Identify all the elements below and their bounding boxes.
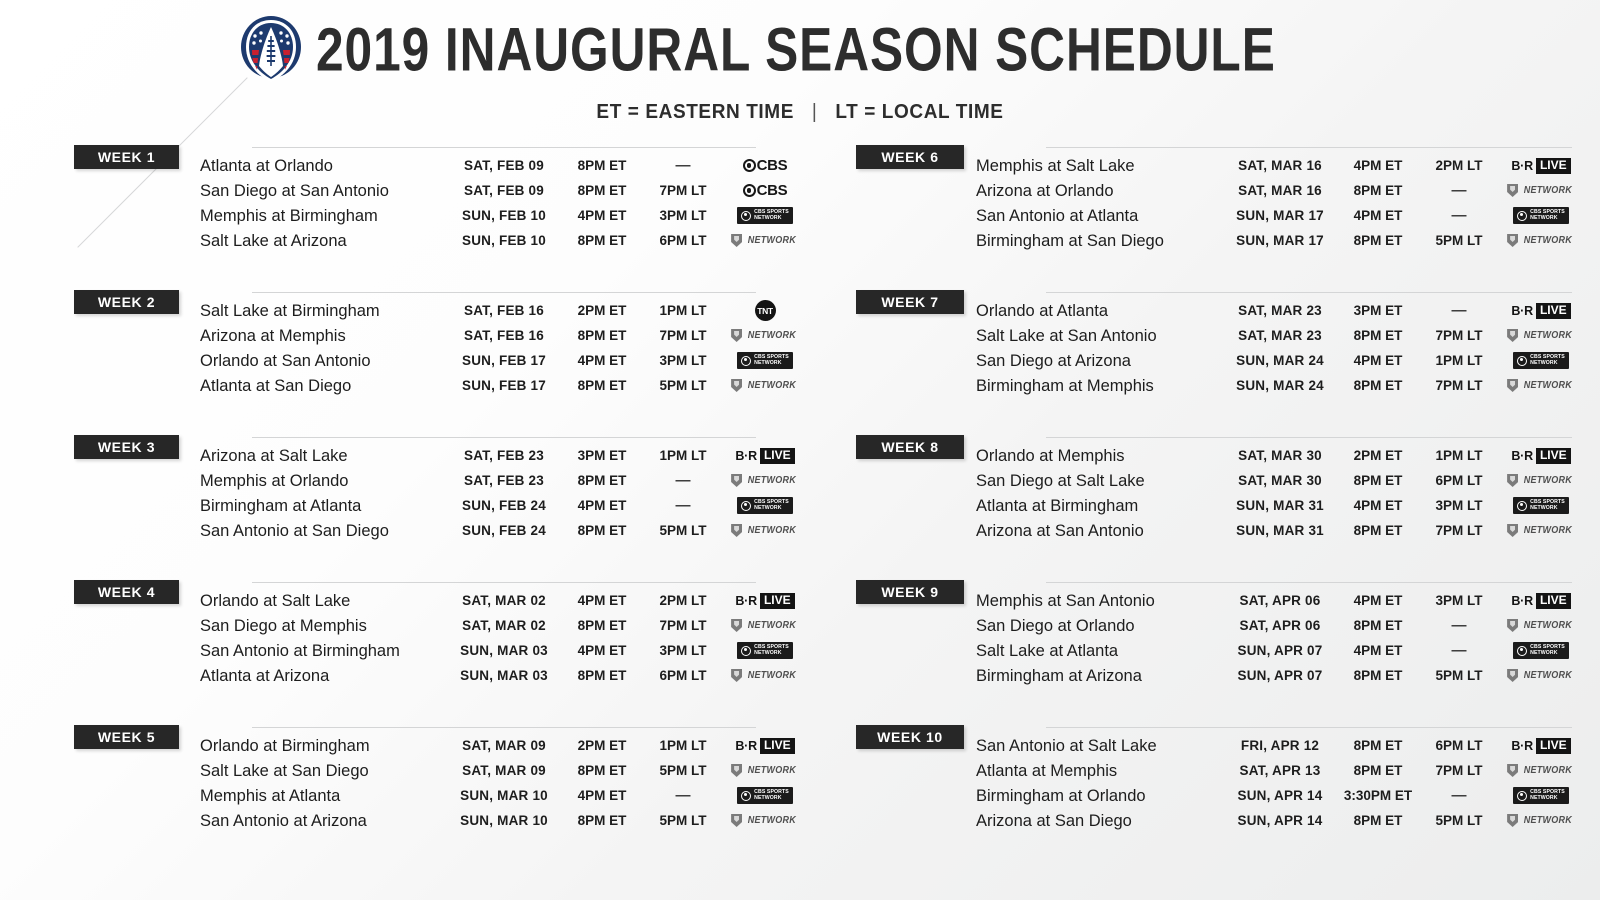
game-date: SAT, APR 06 bbox=[1224, 618, 1336, 633]
cbs-eye-icon bbox=[741, 211, 751, 221]
matchup: Memphis at Orlando bbox=[200, 471, 441, 491]
broadcast-network: NETWORK bbox=[1498, 619, 1584, 632]
eastern-time: 4PM ET bbox=[1336, 593, 1420, 608]
network-wordmark: NETWORK bbox=[1524, 525, 1572, 536]
network-wordmark: NETWORK bbox=[748, 235, 796, 246]
broadcast-network: NETWORK bbox=[722, 234, 808, 247]
nfl-network-logo: NETWORK bbox=[1507, 474, 1575, 487]
game-row: Memphis at OrlandoSAT, FEB 238PM ET—NETW… bbox=[200, 468, 766, 493]
game-row: Arizona at MemphisSAT, FEB 168PM ET7PM L… bbox=[200, 323, 766, 348]
broadcast-network: TNT bbox=[722, 300, 808, 321]
eastern-time: 8PM ET bbox=[560, 378, 644, 393]
game-date: SAT, APR 06 bbox=[1224, 593, 1336, 608]
local-time: — bbox=[1420, 302, 1498, 319]
network-wordmark: NETWORK bbox=[1524, 185, 1572, 196]
matchup: San Antonio at San Diego bbox=[200, 521, 441, 541]
matchup: Atlanta at Arizona bbox=[200, 666, 441, 686]
game-row: Arizona at Salt LakeSAT, FEB 233PM ET1PM… bbox=[200, 443, 766, 468]
legend-eastern-time: ET = EASTERN TIME bbox=[596, 101, 794, 123]
eastern-time: 8PM ET bbox=[1336, 328, 1420, 343]
game-date: SAT, FEB 16 bbox=[448, 303, 560, 318]
matchup: Atlanta at Memphis bbox=[976, 761, 1217, 781]
cbs-eye-icon bbox=[1517, 501, 1527, 511]
broadcast-network: NETWORK bbox=[1498, 379, 1584, 392]
nfl-network-logo: NETWORK bbox=[1507, 764, 1575, 777]
cbs-eye-icon bbox=[743, 159, 756, 172]
shield-icon bbox=[1507, 379, 1518, 392]
game-row: Memphis at Salt LakeSAT, MAR 164PM ET2PM… bbox=[976, 153, 1582, 178]
game-list: Orlando at MemphisSAT, MAR 302PM ET1PM L… bbox=[976, 443, 1582, 543]
game-date: SUN, MAR 03 bbox=[448, 668, 560, 683]
shield-icon bbox=[731, 379, 742, 392]
broadcast-network: NETWORK bbox=[722, 379, 808, 392]
aaf-shield-logo bbox=[240, 14, 302, 86]
game-date: SUN, APR 07 bbox=[1224, 668, 1336, 683]
br-live-badge: LIVE bbox=[760, 593, 795, 609]
cbs-sports-network-logo: CBS SPORTSNETWORK bbox=[1513, 787, 1569, 804]
game-date: SUN, MAR 10 bbox=[448, 788, 560, 803]
week-label-10: WEEK 10 bbox=[856, 725, 964, 749]
broadcast-network: B·RLIVE bbox=[722, 593, 808, 609]
game-list: Atlanta at OrlandoSAT, FEB 098PM ET—CBSS… bbox=[200, 153, 766, 253]
br-wordmark: B·R bbox=[735, 449, 757, 463]
nfl-network-logo: NETWORK bbox=[1507, 329, 1575, 342]
cbs-sports-network-logo: CBS SPORTSNETWORK bbox=[737, 207, 793, 224]
cbs-eye-icon bbox=[1517, 356, 1527, 366]
game-row: San Antonio at ArizonaSUN, MAR 108PM ET5… bbox=[200, 808, 766, 833]
matchup: Atlanta at San Diego bbox=[200, 376, 441, 396]
bleacher-report-live-logo: B·RLIVE bbox=[1511, 593, 1570, 609]
matchup: Birmingham at San Diego bbox=[976, 231, 1217, 251]
broadcast-network: NETWORK bbox=[722, 669, 808, 682]
br-live-badge: LIVE bbox=[1536, 303, 1571, 319]
broadcast-network: B·RLIVE bbox=[1498, 303, 1584, 319]
cbs-sports-network-logo: CBS SPORTSNETWORK bbox=[737, 642, 793, 659]
cbs-eye-icon bbox=[743, 184, 756, 197]
tnt-logo: TNT bbox=[755, 300, 776, 321]
matchup: San Antonio at Arizona bbox=[200, 811, 441, 831]
game-row: San Diego at OrlandoSAT, APR 068PM ET—NE… bbox=[976, 613, 1582, 638]
local-time: 7PM LT bbox=[644, 183, 722, 198]
br-wordmark: B·R bbox=[1511, 594, 1533, 608]
game-date: SAT, MAR 23 bbox=[1224, 328, 1336, 343]
schedule-column-left: WEEK 1Atlanta at OrlandoSAT, FEB 098PM E… bbox=[0, 140, 800, 880]
game-date: SUN, FEB 24 bbox=[448, 498, 560, 513]
matchup: San Diego at Memphis bbox=[200, 616, 441, 636]
local-time: 7PM LT bbox=[1420, 378, 1498, 393]
cbs-wordmark: CBS bbox=[757, 182, 788, 199]
game-row: San Antonio at San DiegoSUN, FEB 248PM E… bbox=[200, 518, 766, 543]
local-time: 3PM LT bbox=[644, 643, 722, 658]
eastern-time: 8PM ET bbox=[560, 328, 644, 343]
cbs-sports-network-wordmark: CBS SPORTSNETWORK bbox=[1530, 210, 1565, 221]
cbs-eye-icon bbox=[1517, 646, 1527, 656]
cbs-sports-network-wordmark: CBS SPORTSNETWORK bbox=[754, 210, 789, 221]
shield-icon bbox=[1507, 234, 1518, 247]
game-row: Memphis at San AntonioSAT, APR 064PM ET3… bbox=[976, 588, 1582, 613]
game-row: Birmingham at AtlantaSUN, FEB 244PM ET—C… bbox=[200, 493, 766, 518]
local-time: 5PM LT bbox=[644, 378, 722, 393]
matchup: Birmingham at Atlanta bbox=[200, 496, 441, 516]
game-date: SUN, MAR 24 bbox=[1224, 353, 1336, 368]
shield-icon bbox=[731, 814, 742, 827]
network-wordmark: NETWORK bbox=[1524, 235, 1572, 246]
section-divider bbox=[252, 437, 756, 438]
broadcast-network: NETWORK bbox=[722, 764, 808, 777]
eastern-time: 3:30PM ET bbox=[1336, 788, 1420, 803]
week-block: WEEK 6Memphis at Salt LakeSAT, MAR 164PM… bbox=[856, 140, 1582, 285]
matchup: San Antonio at Birmingham bbox=[200, 641, 441, 661]
eastern-time: 4PM ET bbox=[1336, 158, 1420, 173]
network-wordmark: NETWORK bbox=[748, 330, 796, 341]
shield-icon bbox=[731, 669, 742, 682]
cbs-eye-icon bbox=[741, 356, 751, 366]
matchup: Birmingham at Orlando bbox=[976, 786, 1217, 806]
eastern-time: 8PM ET bbox=[1336, 738, 1420, 753]
broadcast-network: CBS SPORTSNETWORK bbox=[1498, 207, 1584, 224]
local-time: — bbox=[644, 787, 722, 804]
matchup: Orlando at Salt Lake bbox=[200, 591, 441, 611]
week-block: WEEK 2Salt Lake at BirminghamSAT, FEB 16… bbox=[74, 285, 766, 430]
broadcast-network: B·RLIVE bbox=[1498, 738, 1584, 754]
eastern-time: 4PM ET bbox=[1336, 208, 1420, 223]
broadcast-network: NETWORK bbox=[722, 814, 808, 827]
game-row: Birmingham at OrlandoSUN, APR 143:30PM E… bbox=[976, 783, 1582, 808]
bleacher-report-live-logo: B·RLIVE bbox=[1511, 158, 1570, 174]
schedule-column-right: WEEK 6Memphis at Salt LakeSAT, MAR 164PM… bbox=[800, 140, 1600, 880]
eastern-time: 3PM ET bbox=[560, 448, 644, 463]
broadcast-network: CBS SPORTSNETWORK bbox=[722, 642, 808, 659]
game-list: Memphis at Salt LakeSAT, MAR 164PM ET2PM… bbox=[976, 153, 1582, 253]
matchup: Memphis at Atlanta bbox=[200, 786, 441, 806]
bleacher-report-live-logo: B·RLIVE bbox=[735, 448, 794, 464]
game-date: SUN, FEB 17 bbox=[448, 378, 560, 393]
game-date: SUN, APR 14 bbox=[1224, 813, 1336, 828]
matchup: Atlanta at Birmingham bbox=[976, 496, 1217, 516]
game-date: SAT, FEB 09 bbox=[448, 158, 560, 173]
shield-icon bbox=[731, 524, 742, 537]
eastern-time: 8PM ET bbox=[560, 233, 644, 248]
local-time: — bbox=[1420, 642, 1498, 659]
game-date: SUN, FEB 17 bbox=[448, 353, 560, 368]
game-list: Memphis at San AntonioSAT, APR 064PM ET3… bbox=[976, 588, 1582, 688]
matchup: Memphis at Salt Lake bbox=[976, 156, 1217, 176]
local-time: 5PM LT bbox=[644, 523, 722, 538]
nfl-network-logo: NETWORK bbox=[1507, 669, 1575, 682]
matchup: Orlando at Birmingham bbox=[200, 736, 441, 756]
local-time: 2PM LT bbox=[1420, 158, 1498, 173]
local-time: — bbox=[644, 157, 722, 174]
nfl-network-logo: NETWORK bbox=[731, 329, 799, 342]
game-row: Birmingham at ArizonaSUN, APR 078PM ET5P… bbox=[976, 663, 1582, 688]
matchup: Orlando at San Antonio bbox=[200, 351, 441, 371]
eastern-time: 8PM ET bbox=[1336, 183, 1420, 198]
nfl-network-logo: NETWORK bbox=[731, 379, 799, 392]
poster-header: 2019 INAUGURAL SEASON SCHEDULE ET = EAST… bbox=[0, 14, 1600, 124]
game-row: Arizona at San DiegoSUN, APR 148PM ET5PM… bbox=[976, 808, 1582, 833]
week-block: WEEK 10San Antonio at Salt LakeFRI, APR … bbox=[856, 720, 1582, 865]
nfl-network-logo: NETWORK bbox=[731, 524, 799, 537]
game-row: Atlanta at BirminghamSUN, MAR 314PM ET3P… bbox=[976, 493, 1582, 518]
cbs-sports-network-wordmark: CBS SPORTSNETWORK bbox=[754, 645, 789, 656]
bleacher-report-live-logo: B·RLIVE bbox=[1511, 448, 1570, 464]
game-date: SUN, MAR 31 bbox=[1224, 498, 1336, 513]
eastern-time: 2PM ET bbox=[1336, 448, 1420, 463]
nfl-network-logo: NETWORK bbox=[731, 234, 799, 247]
matchup: San Antonio at Atlanta bbox=[976, 206, 1217, 226]
eastern-time: 8PM ET bbox=[1336, 473, 1420, 488]
broadcast-network: NETWORK bbox=[1498, 329, 1584, 342]
game-list: San Antonio at Salt LakeFRI, APR 128PM E… bbox=[976, 733, 1582, 833]
network-wordmark: NETWORK bbox=[748, 620, 796, 631]
cbs-sports-network-logo: CBS SPORTSNETWORK bbox=[737, 352, 793, 369]
nfl-network-logo: NETWORK bbox=[1507, 619, 1575, 632]
local-time: 1PM LT bbox=[644, 303, 722, 318]
eastern-time: 8PM ET bbox=[1336, 763, 1420, 778]
cbs-eye-icon bbox=[741, 646, 751, 656]
local-time: — bbox=[644, 497, 722, 514]
matchup: Arizona at Orlando bbox=[976, 181, 1217, 201]
section-divider bbox=[1046, 727, 1572, 728]
network-wordmark: NETWORK bbox=[1524, 380, 1572, 391]
game-date: SAT, FEB 16 bbox=[448, 328, 560, 343]
section-divider bbox=[252, 582, 756, 583]
game-date: SUN, MAR 24 bbox=[1224, 378, 1336, 393]
local-time: 5PM LT bbox=[644, 763, 722, 778]
matchup: Arizona at Memphis bbox=[200, 326, 441, 346]
broadcast-network: B·RLIVE bbox=[1498, 158, 1584, 174]
cbs-eye-icon bbox=[741, 501, 751, 511]
cbs-logo: CBS bbox=[743, 157, 788, 174]
matchup: Salt Lake at San Diego bbox=[200, 761, 441, 781]
matchup: Orlando at Memphis bbox=[976, 446, 1217, 466]
cbs-eye-icon bbox=[1517, 211, 1527, 221]
game-row: Atlanta at OrlandoSAT, FEB 098PM ET—CBS bbox=[200, 153, 766, 178]
network-wordmark: NETWORK bbox=[1524, 330, 1572, 341]
game-list: Salt Lake at BirminghamSAT, FEB 162PM ET… bbox=[200, 298, 766, 398]
week-label-1: WEEK 1 bbox=[74, 145, 179, 169]
cbs-sports-network-wordmark: CBS SPORTSNETWORK bbox=[754, 355, 789, 366]
broadcast-network: CBS SPORTSNETWORK bbox=[722, 787, 808, 804]
shield-icon bbox=[1507, 474, 1518, 487]
shield-icon bbox=[731, 474, 742, 487]
cbs-sports-network-wordmark: CBS SPORTSNETWORK bbox=[1530, 500, 1565, 511]
broadcast-network: NETWORK bbox=[1498, 524, 1584, 537]
shield-icon bbox=[1507, 329, 1518, 342]
eastern-time: 8PM ET bbox=[1336, 378, 1420, 393]
game-row: Orlando at San AntonioSUN, FEB 174PM ET3… bbox=[200, 348, 766, 373]
broadcast-network: CBS SPORTSNETWORK bbox=[722, 497, 808, 514]
network-wordmark: NETWORK bbox=[748, 815, 796, 826]
game-date: SUN, FEB 10 bbox=[448, 208, 560, 223]
broadcast-network: B·RLIVE bbox=[722, 738, 808, 754]
broadcast-network: NETWORK bbox=[1498, 474, 1584, 487]
shield-icon bbox=[1507, 814, 1518, 827]
br-live-badge: LIVE bbox=[1536, 593, 1571, 609]
eastern-time: 4PM ET bbox=[560, 498, 644, 513]
game-date: SAT, MAR 09 bbox=[448, 738, 560, 753]
cbs-wordmark: CBS bbox=[757, 157, 788, 174]
game-list: Orlando at AtlantaSAT, MAR 233PM ET—B·RL… bbox=[976, 298, 1582, 398]
game-date: SAT, FEB 23 bbox=[448, 448, 560, 463]
game-row: Salt Lake at San DiegoSAT, MAR 098PM ET5… bbox=[200, 758, 766, 783]
matchup: Birmingham at Memphis bbox=[976, 376, 1217, 396]
game-date: SUN, MAR 17 bbox=[1224, 233, 1336, 248]
matchup: Orlando at Atlanta bbox=[976, 301, 1217, 321]
shield-icon bbox=[1507, 764, 1518, 777]
matchup: Arizona at San Antonio bbox=[976, 521, 1217, 541]
game-row: Orlando at MemphisSAT, MAR 302PM ET1PM L… bbox=[976, 443, 1582, 468]
game-date: SAT, MAR 02 bbox=[448, 593, 560, 608]
eastern-time: 8PM ET bbox=[560, 813, 644, 828]
game-date: FRI, APR 12 bbox=[1224, 738, 1336, 753]
cbs-sports-network-logo: CBS SPORTSNETWORK bbox=[1513, 352, 1569, 369]
schedule-columns: WEEK 1Atlanta at OrlandoSAT, FEB 098PM E… bbox=[0, 140, 1600, 880]
bleacher-report-live-logo: B·RLIVE bbox=[735, 738, 794, 754]
matchup: San Diego at San Antonio bbox=[200, 181, 441, 201]
matchup: Arizona at Salt Lake bbox=[200, 446, 441, 466]
game-date: SAT, MAR 02 bbox=[448, 618, 560, 633]
week-block: WEEK 1Atlanta at OrlandoSAT, FEB 098PM E… bbox=[74, 140, 766, 285]
game-row: Salt Lake at San AntonioSAT, MAR 238PM E… bbox=[976, 323, 1582, 348]
game-date: SAT, MAR 23 bbox=[1224, 303, 1336, 318]
week-label-9: WEEK 9 bbox=[856, 580, 964, 604]
eastern-time: 8PM ET bbox=[560, 183, 644, 198]
network-wordmark: NETWORK bbox=[1524, 620, 1572, 631]
br-wordmark: B·R bbox=[1511, 449, 1533, 463]
game-row: Salt Lake at BirminghamSAT, FEB 162PM ET… bbox=[200, 298, 766, 323]
matchup: Salt Lake at Atlanta bbox=[976, 641, 1217, 661]
page-title: 2019 INAUGURAL SEASON SCHEDULE bbox=[316, 19, 1276, 81]
broadcast-network: NETWORK bbox=[1498, 669, 1584, 682]
network-wordmark: NETWORK bbox=[748, 380, 796, 391]
week-label-3: WEEK 3 bbox=[74, 435, 179, 459]
broadcast-network: NETWORK bbox=[722, 474, 808, 487]
br-live-badge: LIVE bbox=[1536, 738, 1571, 754]
eastern-time: 8PM ET bbox=[560, 158, 644, 173]
section-divider bbox=[1046, 582, 1572, 583]
eastern-time: 8PM ET bbox=[560, 473, 644, 488]
game-row: San Diego at ArizonaSUN, MAR 244PM ET1PM… bbox=[976, 348, 1582, 373]
broadcast-network: NETWORK bbox=[1498, 814, 1584, 827]
local-time: — bbox=[1420, 207, 1498, 224]
nfl-network-logo: NETWORK bbox=[1507, 814, 1575, 827]
nfl-network-logo: NETWORK bbox=[1507, 524, 1575, 537]
section-divider bbox=[1046, 437, 1572, 438]
section-divider bbox=[1046, 292, 1572, 293]
game-date: SUN, MAR 03 bbox=[448, 643, 560, 658]
cbs-sports-network-wordmark: CBS SPORTSNETWORK bbox=[1530, 790, 1565, 801]
matchup: Memphis at San Antonio bbox=[976, 591, 1217, 611]
network-wordmark: NETWORK bbox=[748, 670, 796, 681]
local-time: 2PM LT bbox=[644, 593, 722, 608]
section-divider bbox=[252, 292, 756, 293]
broadcast-network: NETWORK bbox=[722, 524, 808, 537]
game-row: San Diego at San AntonioSAT, FEB 098PM E… bbox=[200, 178, 766, 203]
eastern-time: 8PM ET bbox=[560, 668, 644, 683]
week-label-2: WEEK 2 bbox=[74, 290, 179, 314]
broadcast-network: B·RLIVE bbox=[1498, 448, 1584, 464]
broadcast-network: B·RLIVE bbox=[1498, 593, 1584, 609]
matchup: Arizona at San Diego bbox=[976, 811, 1217, 831]
local-time: 1PM LT bbox=[644, 738, 722, 753]
week-label-5: WEEK 5 bbox=[74, 725, 179, 749]
shield-icon bbox=[731, 764, 742, 777]
game-row: Salt Lake at AtlantaSUN, APR 074PM ET—CB… bbox=[976, 638, 1582, 663]
broadcast-network: CBS SPORTSNETWORK bbox=[1498, 642, 1584, 659]
section-divider bbox=[1046, 147, 1572, 148]
local-time: 7PM LT bbox=[644, 328, 722, 343]
week-block: WEEK 7Orlando at AtlantaSAT, MAR 233PM E… bbox=[856, 285, 1582, 430]
eastern-time: 4PM ET bbox=[560, 643, 644, 658]
local-time: 6PM LT bbox=[1420, 738, 1498, 753]
local-time: 7PM LT bbox=[1420, 523, 1498, 538]
cbs-sports-network-logo: CBS SPORTSNETWORK bbox=[737, 497, 793, 514]
game-date: SAT, MAR 30 bbox=[1224, 473, 1336, 488]
broadcast-network: NETWORK bbox=[1498, 764, 1584, 777]
broadcast-network: CBS bbox=[722, 182, 808, 199]
section-divider bbox=[252, 727, 756, 728]
matchup: Memphis at Birmingham bbox=[200, 206, 441, 226]
game-row: San Diego at MemphisSAT, MAR 028PM ET7PM… bbox=[200, 613, 766, 638]
game-date: SAT, MAR 16 bbox=[1224, 158, 1336, 173]
legend-separator: | bbox=[800, 101, 830, 124]
nfl-network-logo: NETWORK bbox=[731, 474, 799, 487]
game-row: Atlanta at ArizonaSUN, MAR 038PM ET6PM L… bbox=[200, 663, 766, 688]
game-date: SAT, FEB 09 bbox=[448, 183, 560, 198]
broadcast-network: CBS bbox=[722, 157, 808, 174]
shield-icon bbox=[731, 234, 742, 247]
game-row: Atlanta at MemphisSAT, APR 138PM ET7PM L… bbox=[976, 758, 1582, 783]
br-wordmark: B·R bbox=[1511, 304, 1533, 318]
br-live-badge: LIVE bbox=[1536, 448, 1571, 464]
broadcast-network: NETWORK bbox=[722, 619, 808, 632]
local-time: 3PM LT bbox=[644, 353, 722, 368]
network-wordmark: NETWORK bbox=[1524, 670, 1572, 681]
matchup: Atlanta at Orlando bbox=[200, 156, 441, 176]
week-block: WEEK 9Memphis at San AntonioSAT, APR 064… bbox=[856, 575, 1582, 720]
week-label-8: WEEK 8 bbox=[856, 435, 964, 459]
local-time: 7PM LT bbox=[1420, 328, 1498, 343]
eastern-time: 4PM ET bbox=[560, 593, 644, 608]
game-date: SAT, MAR 09 bbox=[448, 763, 560, 778]
eastern-time: 4PM ET bbox=[1336, 353, 1420, 368]
game-date: SUN, MAR 10 bbox=[448, 813, 560, 828]
broadcast-network: NETWORK bbox=[722, 329, 808, 342]
network-wordmark: NETWORK bbox=[1524, 765, 1572, 776]
week-label-4: WEEK 4 bbox=[74, 580, 179, 604]
eastern-time: 2PM ET bbox=[560, 303, 644, 318]
game-date: SUN, FEB 10 bbox=[448, 233, 560, 248]
local-time: 7PM LT bbox=[1420, 763, 1498, 778]
week-block: WEEK 5Orlando at BirminghamSAT, MAR 092P… bbox=[74, 720, 766, 865]
local-time: 1PM LT bbox=[644, 448, 722, 463]
eastern-time: 3PM ET bbox=[1336, 303, 1420, 318]
local-time: 5PM LT bbox=[1420, 813, 1498, 828]
game-date: SUN, MAR 31 bbox=[1224, 523, 1336, 538]
local-time: 6PM LT bbox=[644, 233, 722, 248]
matchup: Salt Lake at Birmingham bbox=[200, 301, 441, 321]
game-row: Atlanta at San DiegoSUN, FEB 178PM ET5PM… bbox=[200, 373, 766, 398]
eastern-time: 8PM ET bbox=[1336, 618, 1420, 633]
local-time: 5PM LT bbox=[644, 813, 722, 828]
network-wordmark: NETWORK bbox=[748, 475, 796, 486]
cbs-sports-network-wordmark: CBS SPORTSNETWORK bbox=[1530, 645, 1565, 656]
game-row: Orlando at AtlantaSAT, MAR 233PM ET—B·RL… bbox=[976, 298, 1582, 323]
cbs-sports-network-wordmark: CBS SPORTSNETWORK bbox=[1530, 355, 1565, 366]
shield-icon bbox=[1507, 524, 1518, 537]
eastern-time: 8PM ET bbox=[560, 763, 644, 778]
